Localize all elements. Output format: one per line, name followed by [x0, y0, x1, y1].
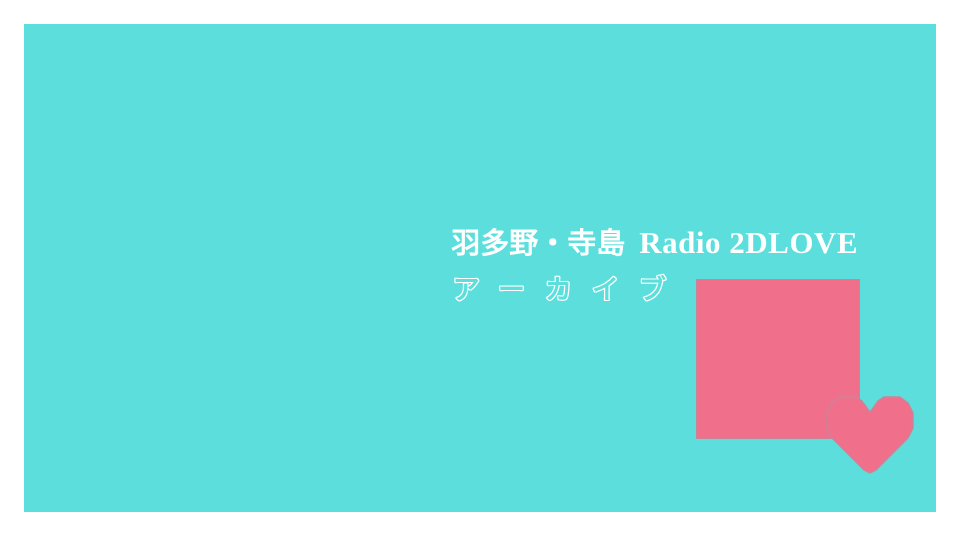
heart-path [827, 397, 913, 473]
slide-canvas: 羽多野・寺島Radio 2DLOVE アーカイブ [0, 0, 960, 540]
pink-heart-icon [826, 396, 914, 474]
